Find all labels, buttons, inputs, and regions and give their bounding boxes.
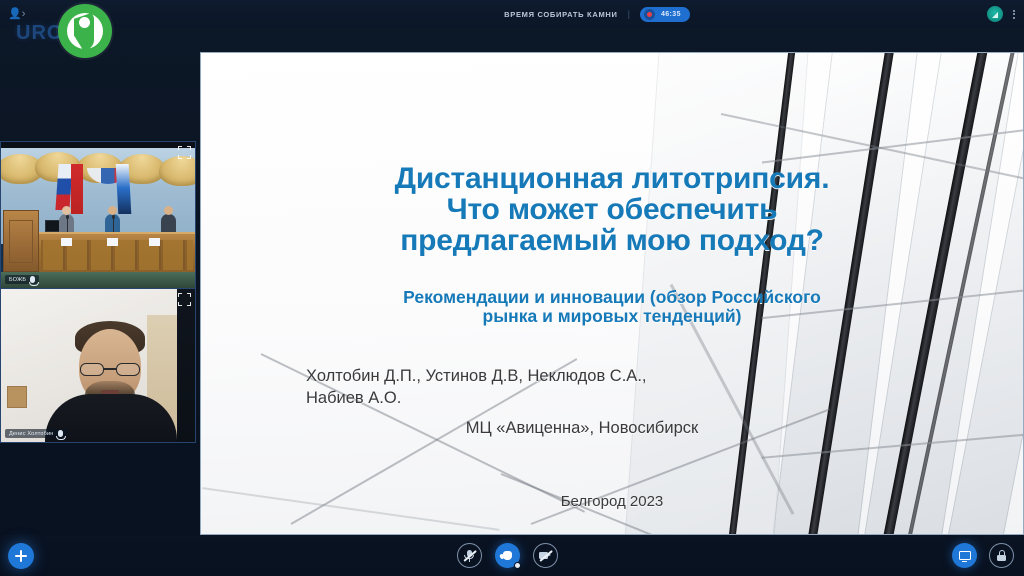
tile-label: БОЖБ <box>5 275 39 284</box>
expand-icon[interactable] <box>178 146 191 159</box>
green-circle-logo-icon <box>58 4 112 58</box>
bottom-bar-center <box>120 543 894 568</box>
raise-hand-icon <box>501 549 514 562</box>
bottom-control-bar <box>0 535 1024 576</box>
slide-subtitle-line-2: рынка и мировых тенденций) <box>483 306 742 326</box>
slide-authors: Холтобин Д.П., Устинов Д.В, Неклюдов С.А… <box>306 365 983 410</box>
slide-subtitle-line-1: Рекомендации и инновации (обзор Российск… <box>403 287 821 307</box>
slide-title-line-1: Дистанционная литотрипсия. <box>201 163 1023 194</box>
glasses <box>80 363 140 376</box>
bottom-bar-left <box>0 543 120 569</box>
plus-icon <box>15 550 27 562</box>
recording-timer: 46:35 <box>661 11 681 18</box>
webcam-scene <box>1 289 195 442</box>
expand-icon[interactable] <box>178 293 191 306</box>
participant-name: Денис Холтобин <box>9 431 54 437</box>
slide-title-line-2: Что может обеспечить <box>201 194 1023 225</box>
add-participant-button[interactable] <box>8 543 34 569</box>
slide-subtitle: Рекомендации и инновации (обзор Российск… <box>231 288 993 327</box>
screen-share-button[interactable] <box>952 543 977 568</box>
slide-content: Дистанционная литотрипсия. Что может обе… <box>201 53 1023 534</box>
logo-text-left: URO <box>16 22 63 44</box>
slide-title: Дистанционная литотрипсия. Что может обе… <box>201 163 1023 257</box>
status-badge <box>514 562 521 569</box>
screen-share-icon <box>958 549 971 562</box>
speaker-webcam-tile[interactable]: Денис Холтобин <box>0 288 196 443</box>
camera-muted-icon <box>539 549 552 562</box>
top-bar-separator: | <box>628 9 630 19</box>
conference-hall-video-tile[interactable]: БОЖБ <box>0 141 196 289</box>
more-options-icon[interactable] <box>1013 10 1015 19</box>
channel-logo: UROTV <box>8 16 158 50</box>
session-title: ВРЕМЯ СОБИРАТЬ КАМНИ <box>504 10 617 19</box>
signal-strength-icon[interactable] <box>987 6 1003 22</box>
top-bar-right <box>944 6 1024 22</box>
mic-icon <box>58 430 63 437</box>
record-dot-icon <box>644 9 655 20</box>
slide-place-year: Белгород 2023 <box>201 493 1023 510</box>
shared-presentation-slide[interactable]: Дистанционная литотрипсия. Что может обе… <box>200 52 1024 535</box>
mic-icon <box>30 276 35 283</box>
slide-organization: МЦ «Авиценна», Новосибирск <box>201 419 963 438</box>
mic-muted-icon <box>463 549 476 562</box>
lock-icon <box>995 549 1008 562</box>
slide-authors-line-1: Холтобин Д.П., Устинов Д.В, Неклюдов С.А… <box>306 367 646 385</box>
recording-indicator[interactable]: 46:35 <box>640 7 690 22</box>
lock-button[interactable] <box>989 543 1014 568</box>
bottom-bar-right <box>894 543 1024 568</box>
camera-toggle-button[interactable] <box>533 543 558 568</box>
video-conference-app: 👤› ВРЕМЯ СОБИРАТЬ КАМНИ | 46:35 UROTV <box>0 0 1024 576</box>
top-bar-center: ВРЕМЯ СОБИРАТЬ КАМНИ | 46:35 <box>250 7 944 22</box>
participant-name: БОЖБ <box>9 277 26 283</box>
conference-hall-scene <box>1 142 195 288</box>
tile-label: Денис Холтобин <box>5 429 67 438</box>
mic-toggle-button[interactable] <box>457 543 482 568</box>
raise-hand-button[interactable] <box>495 543 520 568</box>
slide-title-line-3: предлагаемый мою подход? <box>201 225 1023 256</box>
slide-authors-line-2: Набиев А.О. <box>306 389 401 407</box>
